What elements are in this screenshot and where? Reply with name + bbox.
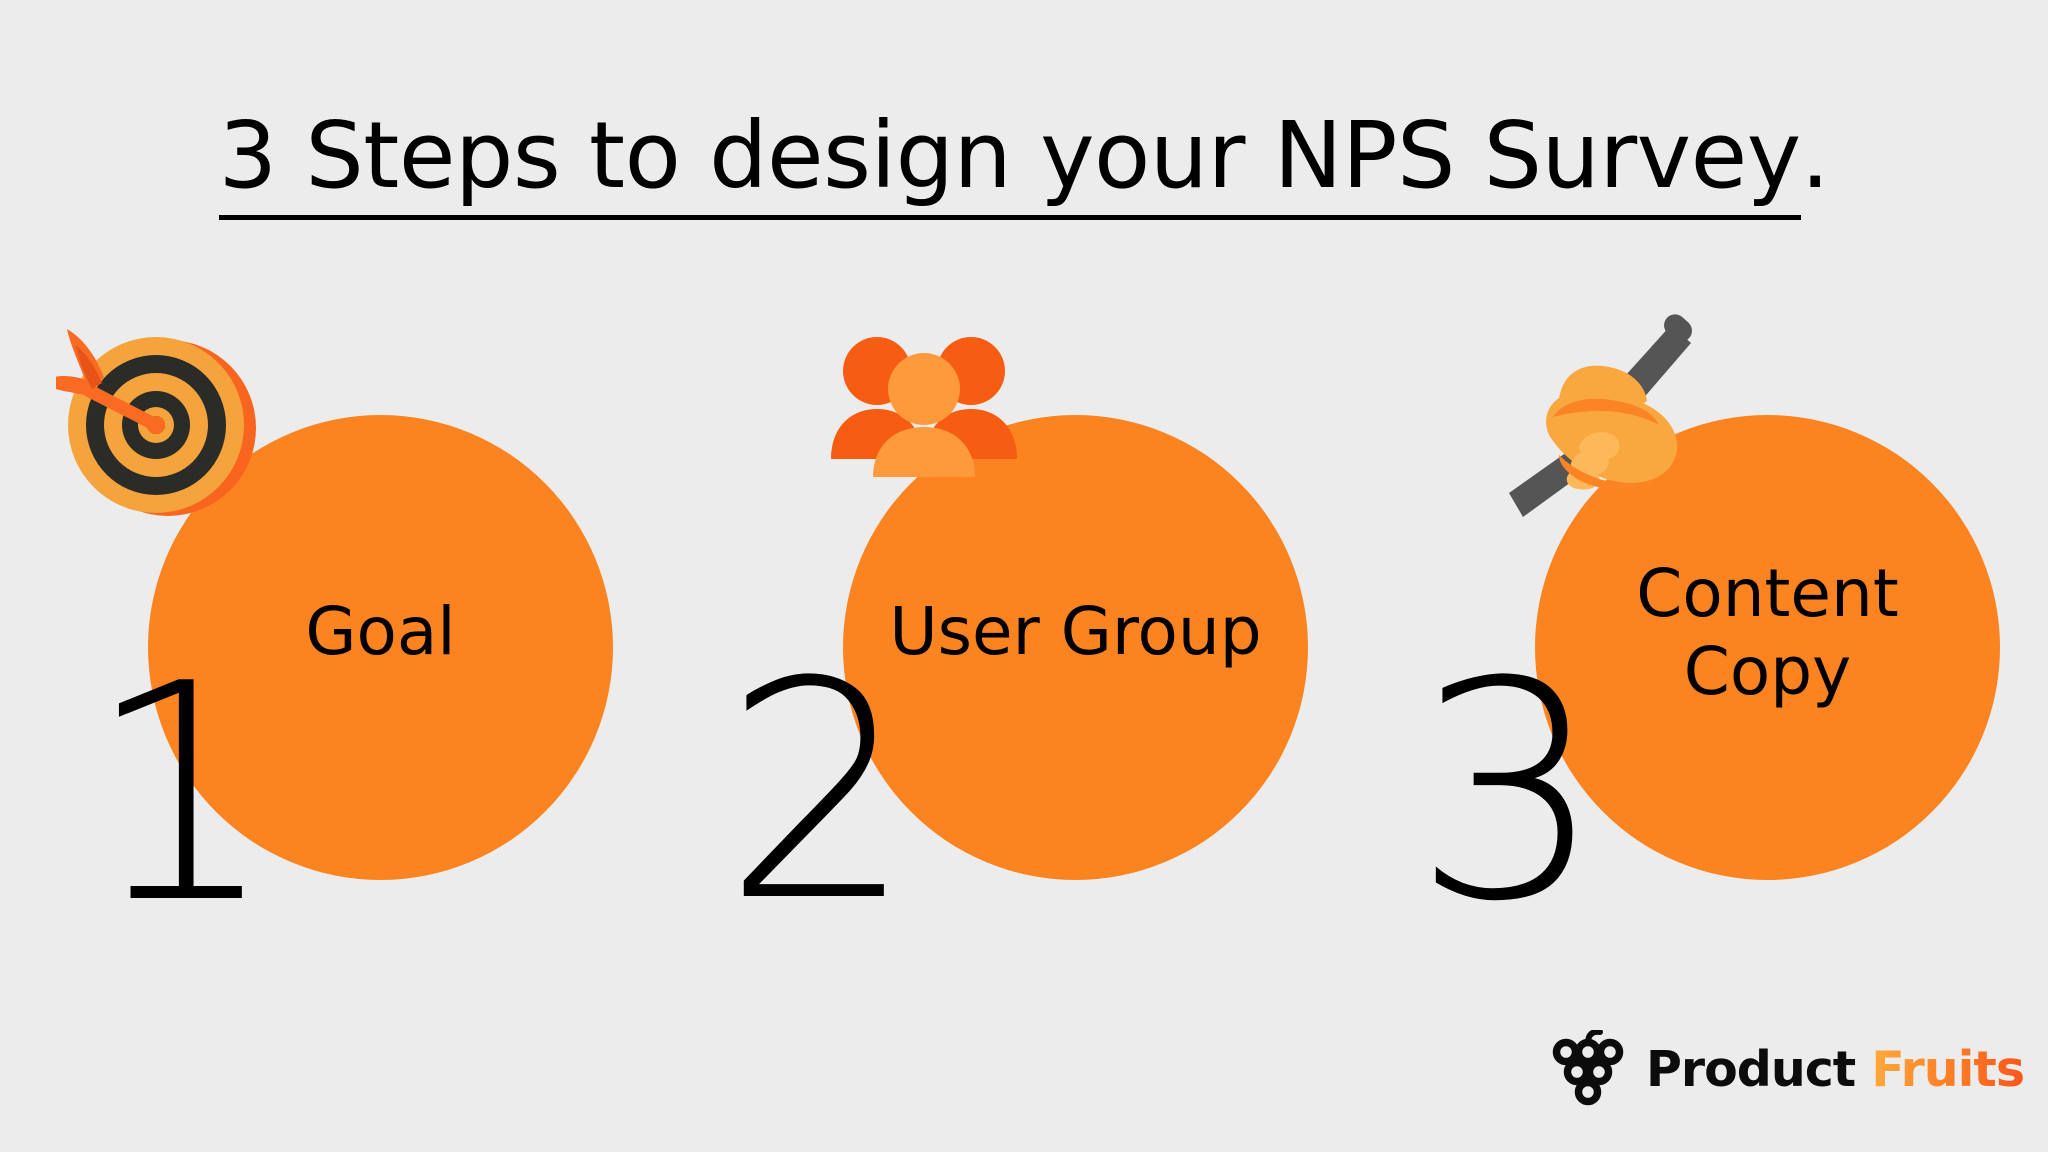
slide-canvas: 3 Steps to design your NPS Survey. 1 Goa…: [0, 0, 2048, 1152]
step-number-2: 2: [723, 643, 914, 943]
grape-cluster-icon: [1552, 1030, 1628, 1108]
step-card-1[interactable]: 1 Goal: [148, 415, 613, 880]
product-fruits-logo[interactable]: Product Fruits: [1552, 1030, 2024, 1108]
step-card-3[interactable]: 3 Content Copy: [1535, 415, 2000, 880]
steps-row: 1 Goal: [0, 0, 2048, 1152]
user-group-icon: [825, 327, 1025, 477]
step-card-2[interactable]: 2 User Group: [843, 415, 1308, 880]
target-dartboard-icon: [56, 323, 261, 528]
step-number-3: 3: [1413, 643, 1604, 943]
writing-hand-pencil-icon: [1505, 305, 1720, 520]
step-number-1: 1: [86, 645, 277, 945]
logo-word-product: Product: [1646, 1041, 1855, 1098]
logo-word-fruits: Fruits: [1871, 1041, 2024, 1098]
